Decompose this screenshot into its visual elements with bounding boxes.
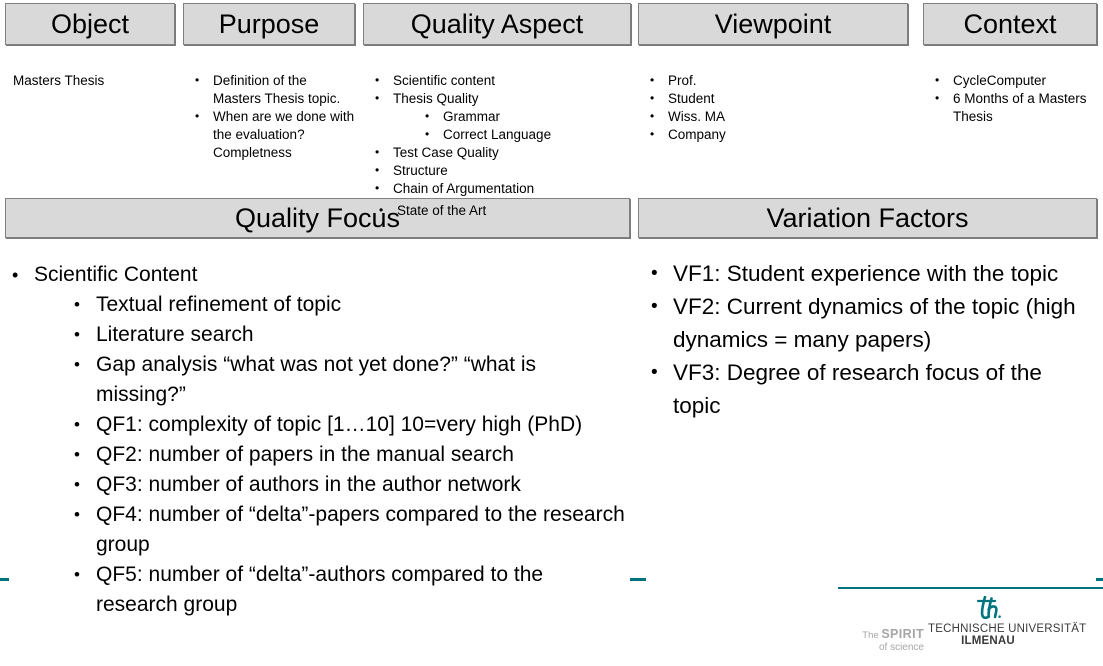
list-item: CycleComputer bbox=[931, 72, 1097, 90]
list-item: Structure bbox=[371, 162, 633, 180]
viewpoint-list: Prof. Student Wiss. MA Company bbox=[646, 72, 908, 144]
header-label-purpose: Purpose bbox=[219, 11, 320, 38]
list-item: Wiss. MA bbox=[646, 108, 908, 126]
list-item: When are we done with the evaluation? Co… bbox=[191, 108, 357, 162]
tu-name-line-2: ILMENAU bbox=[928, 635, 1048, 647]
quality-aspect-list: Scientific content Thesis Quality Gramma… bbox=[371, 72, 633, 198]
quality-aspect-sublist: Grammar Correct Language bbox=[393, 108, 633, 144]
spirit-of-science-logo: The SPIRIT of science bbox=[838, 628, 924, 654]
section-body-variation-factors: VF1: Student experience with the topic V… bbox=[648, 257, 1090, 422]
column-body-viewpoint: Prof. Student Wiss. MA Company bbox=[646, 72, 908, 144]
list-item: Scientific content bbox=[371, 72, 633, 90]
header-label-object: Object bbox=[51, 11, 129, 38]
spirit-word: SPIRIT bbox=[881, 627, 924, 641]
context-list: CycleComputer 6 Months of a Masters Thes… bbox=[931, 72, 1097, 126]
list-item: Scientific Content bbox=[8, 260, 630, 290]
spirit-line-2: of science bbox=[838, 642, 924, 654]
header-label-variation-factors: Variation Factors bbox=[766, 205, 968, 232]
spirit-line-1: The SPIRIT bbox=[838, 628, 924, 642]
list-item: Definition of the Masters Thesis topic. bbox=[191, 72, 357, 108]
list-item: QF3: number of authors in the author net… bbox=[60, 470, 630, 500]
header-box-quality-focus[interactable]: Quality Focus bbox=[5, 198, 630, 238]
variation-factors-list: VF1: Student experience with the topic V… bbox=[648, 257, 1090, 422]
purpose-list: Definition of the Masters Thesis topic. … bbox=[191, 72, 357, 162]
accent-tick-right bbox=[1096, 578, 1103, 581]
slide-canvas: Object Purpose Quality Aspect Viewpoint … bbox=[0, 0, 1103, 666]
list-item: Correct Language bbox=[393, 126, 633, 144]
column-body-purpose: Definition of the Masters Thesis topic. … bbox=[191, 72, 357, 162]
list-item: Prof. bbox=[646, 72, 908, 90]
list-item: Literature search bbox=[60, 320, 630, 350]
object-value: Masters Thesis bbox=[13, 72, 175, 90]
accent-tick-middle bbox=[630, 578, 646, 581]
list-item: Test Case Quality bbox=[371, 144, 633, 162]
quality-focus-top-list: Scientific Content bbox=[8, 260, 630, 290]
quality-focus-top-item: Scientific Content bbox=[34, 263, 197, 286]
list-item: Chain of Argumentation bbox=[371, 180, 633, 198]
header-label-quality-aspect: Quality Aspect bbox=[411, 11, 584, 38]
header-box-viewpoint[interactable]: Viewpoint bbox=[638, 3, 908, 45]
tu-ilmenau-logo: TECHNISCHE UNIVERSITÄT ILMENAU bbox=[928, 596, 1048, 647]
column-body-context: CycleComputer 6 Months of a Masters Thes… bbox=[931, 72, 1097, 126]
list-item: VF1: Student experience with the topic bbox=[648, 257, 1090, 290]
spirit-the: The bbox=[862, 630, 881, 641]
section-body-quality-focus: Scientific Content Textual refinement of… bbox=[8, 260, 630, 620]
column-body-quality-aspect: Scientific content Thesis Quality Gramma… bbox=[371, 72, 633, 198]
quality-focus-list: Textual refinement of topic Literature s… bbox=[8, 290, 630, 620]
list-item: Textual refinement of topic bbox=[60, 290, 630, 320]
list-item: QF4: number of “delta”-papers compared t… bbox=[60, 500, 630, 560]
list-item: Gap analysis “what was not yet done?” “w… bbox=[60, 350, 630, 410]
header-box-purpose[interactable]: Purpose bbox=[183, 3, 355, 45]
header-label-context: Context bbox=[963, 11, 1056, 38]
footer-divider-rule bbox=[838, 587, 1103, 589]
accent-tick-left bbox=[0, 578, 9, 581]
list-item: QF2: number of papers in the manual sear… bbox=[60, 440, 630, 470]
list-item: QF5: number of “delta”-authors compared … bbox=[60, 560, 630, 620]
list-item: VF3: Degree of research focus of the top… bbox=[648, 356, 1090, 422]
header-box-variation-factors[interactable]: Variation Factors bbox=[638, 198, 1097, 238]
tu-name-line-1: TECHNISCHE UNIVERSITÄT bbox=[928, 623, 1048, 635]
th-monogram-icon bbox=[928, 596, 1048, 622]
header-label-quality-focus: Quality Focus bbox=[235, 205, 400, 232]
header-box-quality-aspect[interactable]: Quality Aspect bbox=[363, 3, 631, 45]
column-body-object: Masters Thesis bbox=[13, 72, 175, 90]
quality-aspect-overflow-item: State of the Art bbox=[397, 202, 486, 220]
header-box-context[interactable]: Context bbox=[923, 3, 1097, 45]
list-item: QF1: complexity of topic [1…10] 10=very … bbox=[60, 410, 630, 440]
list-item: Thesis Quality Grammar Correct Language bbox=[371, 90, 633, 144]
list-item: Grammar bbox=[393, 108, 633, 126]
list-item: 6 Months of a Masters Thesis bbox=[931, 90, 1097, 126]
list-item: VF2: Current dynamics of the topic (high… bbox=[648, 290, 1090, 356]
header-box-object[interactable]: Object bbox=[5, 3, 175, 45]
list-item: Company bbox=[646, 126, 908, 144]
list-item: Student bbox=[646, 90, 908, 108]
header-label-viewpoint: Viewpoint bbox=[715, 11, 832, 38]
